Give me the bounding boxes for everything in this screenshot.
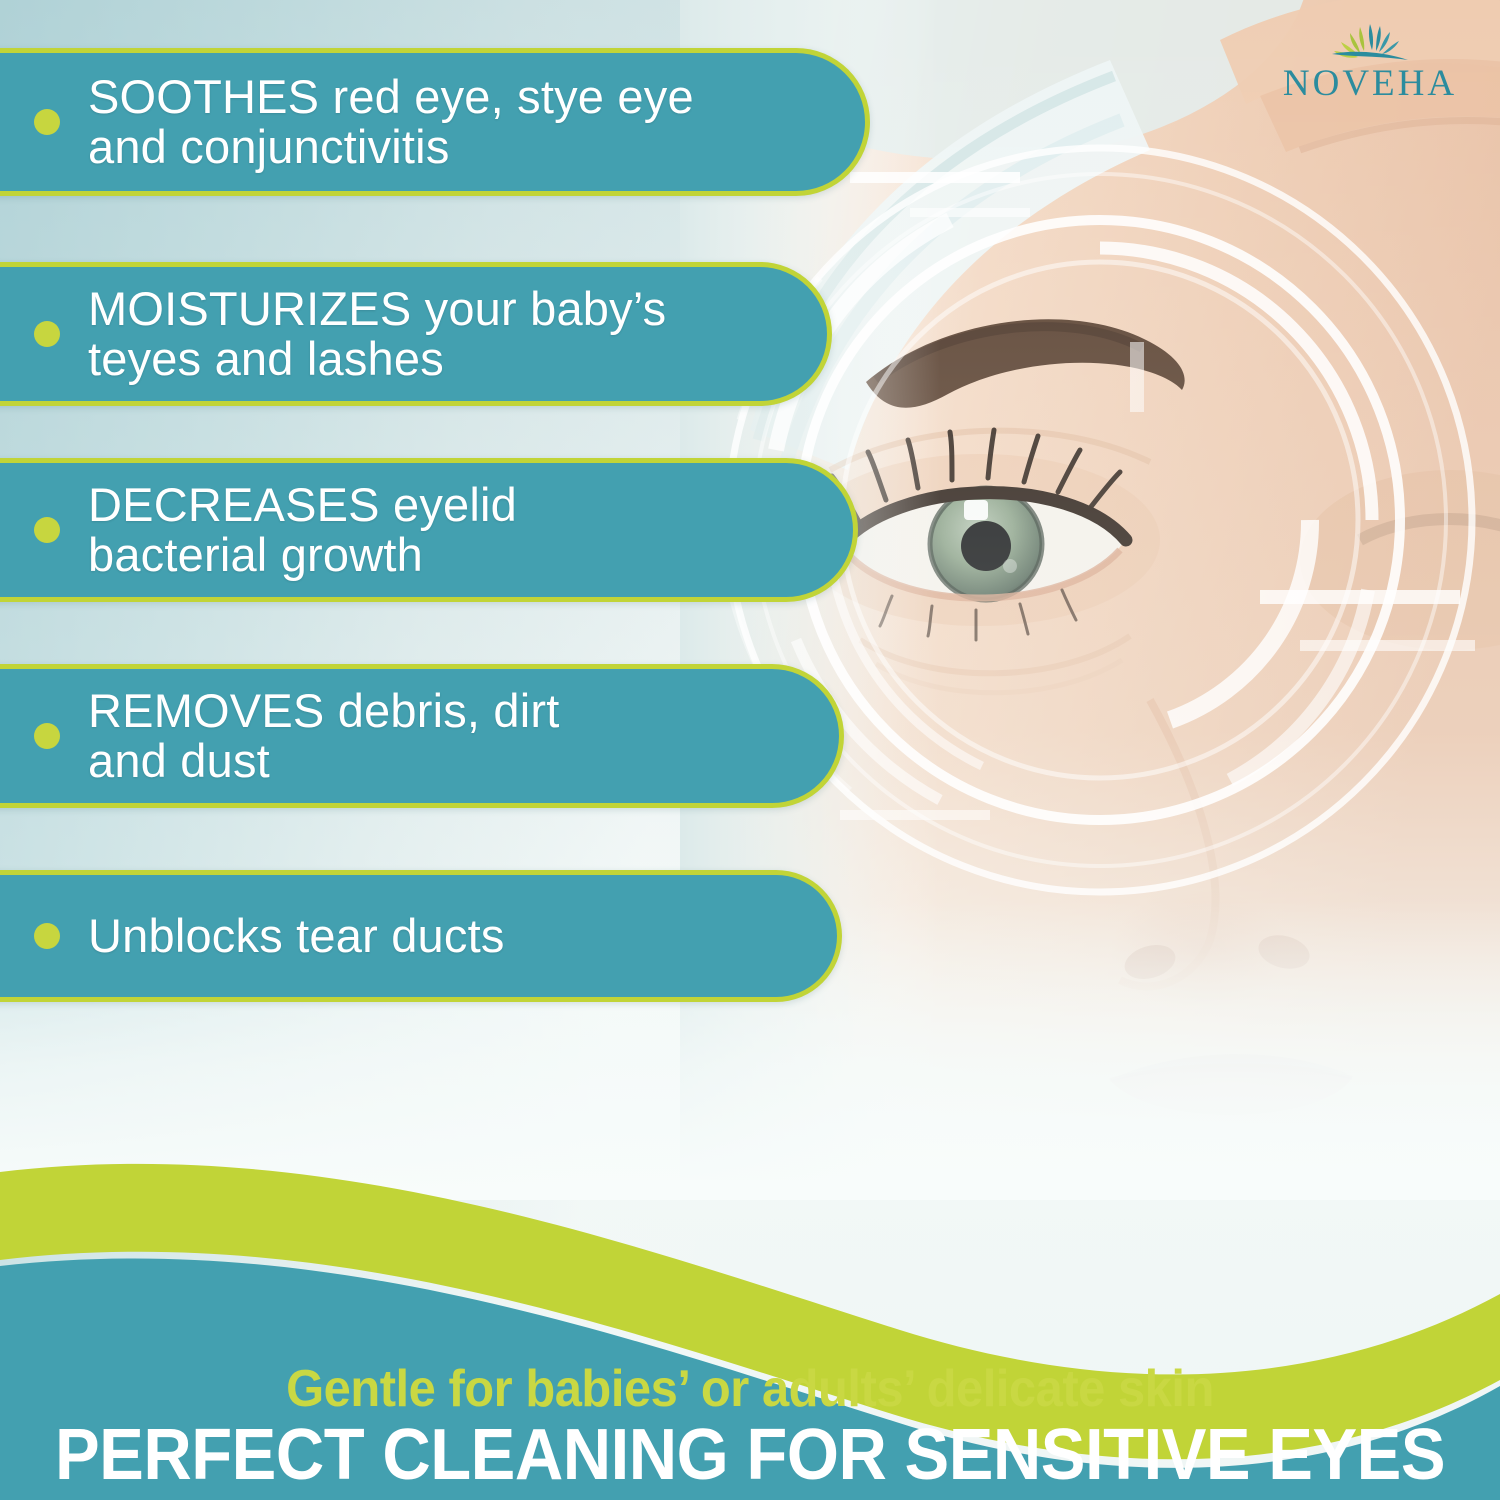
benefit-line: SOOTHES red eye, stye eye [88, 72, 694, 122]
benefit-pill-unblocks[interactable]: Unblocks tear ducts [0, 870, 842, 1002]
footer-text-block: Gentle for babies’ or adults’ delicate s… [0, 1362, 1500, 1492]
bullet-dot-icon [34, 723, 60, 749]
footer-tagline: Gentle for babies’ or adults’ delicate s… [45, 1362, 1455, 1417]
benefit-line: teyes and lashes [88, 334, 666, 384]
bullet-dot-icon [34, 923, 60, 949]
benefit-line: and dust [88, 736, 560, 786]
lotus-leaf-fan-icon [1310, 18, 1430, 64]
benefit-line: Unblocks tear ducts [88, 911, 505, 961]
brand-wordmark: NOVEHA [1283, 65, 1457, 102]
bullet-dot-icon [34, 109, 60, 135]
benefit-text: SOOTHES red eye, stye eye and conjunctiv… [88, 72, 694, 173]
benefit-text: REMOVES debris, dirt and dust [88, 686, 560, 787]
bullet-dot-icon [34, 321, 60, 347]
benefit-line: DECREASES eyelid [88, 480, 517, 530]
product-feature-graphic: NOVEHA SOOTHES red eye, stye eye and con… [0, 0, 1500, 1500]
benefit-pill-decreases[interactable]: DECREASES eyelid bacterial growth [0, 458, 858, 602]
bullet-dot-icon [34, 517, 60, 543]
benefit-pill-moisturizes[interactable]: MOISTURIZES your baby’s teyes and lashes [0, 262, 832, 406]
benefit-text: MOISTURIZES your baby’s teyes and lashes [88, 284, 666, 385]
benefit-pill-removes[interactable]: REMOVES debris, dirt and dust [0, 664, 844, 808]
footer-headline: PERFECT CLEANING FOR SENSITIVE EYES [53, 1419, 1448, 1492]
benefit-text: Unblocks tear ducts [88, 911, 505, 961]
benefit-line: MOISTURIZES your baby’s [88, 284, 666, 334]
brand-logo: NOVEHA [1270, 18, 1470, 118]
benefit-pill-soothes[interactable]: SOOTHES red eye, stye eye and conjunctiv… [0, 48, 870, 196]
benefit-text: DECREASES eyelid bacterial growth [88, 480, 517, 581]
benefit-line: bacterial growth [88, 530, 517, 580]
benefit-line: REMOVES debris, dirt [88, 686, 560, 736]
benefit-line: and conjunctivitis [88, 122, 694, 172]
